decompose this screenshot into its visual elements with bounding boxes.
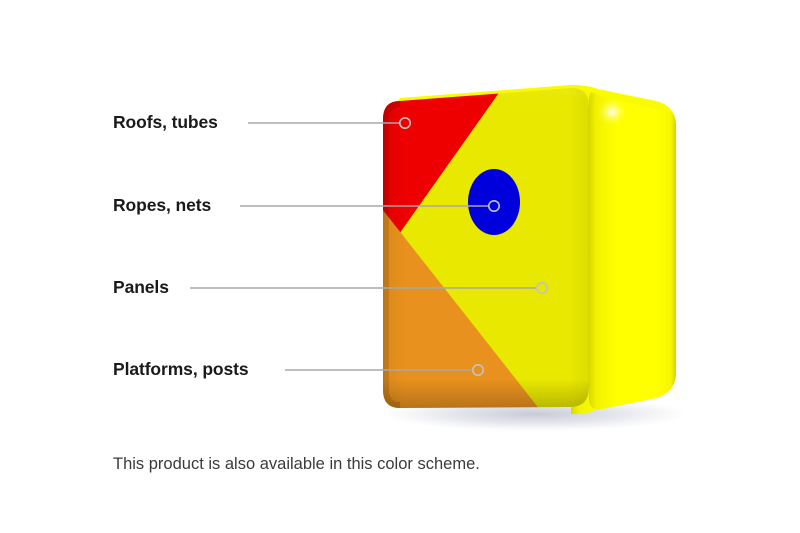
diagram-canvas: Roofs, tubes Ropes, nets Panels Platform… — [0, 0, 800, 533]
callout-label-panels: Panels — [113, 279, 169, 297]
product-illustration — [0, 0, 800, 533]
right-side-slab — [589, 89, 676, 409]
callout-label-roofs-tubes: Roofs, tubes — [113, 114, 218, 132]
front-face-shade-vertical — [375, 80, 600, 420]
specular-highlight — [597, 98, 627, 126]
caption-text: This product is also available in this c… — [113, 456, 480, 473]
callout-label-platforms-posts: Platforms, posts — [113, 361, 249, 379]
callout-label-ropes-nets: Ropes, nets — [113, 197, 211, 215]
